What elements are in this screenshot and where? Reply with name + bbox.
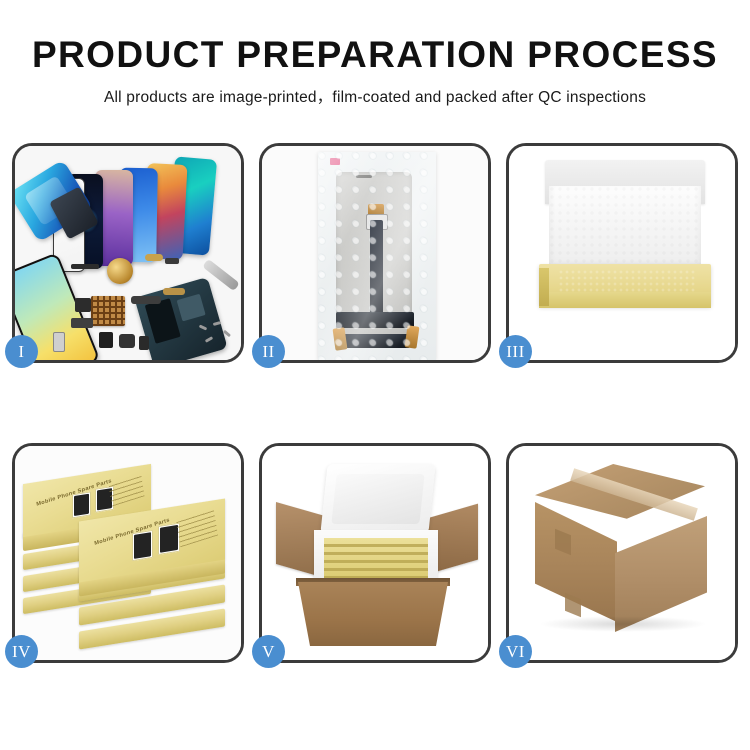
- camera-module-part: [75, 298, 91, 312]
- bubble-wrap-package: [318, 152, 436, 360]
- step-4-image: Mobile Phone Spare Parts Mobile Phone Sp…: [15, 446, 241, 660]
- flex-cable-part-b: [165, 258, 179, 264]
- retail-box-rear-window-left: [72, 492, 91, 519]
- page-header: PRODUCT PREPARATION PROCESS All products…: [0, 0, 750, 107]
- process-steps-grid: I II: [12, 143, 738, 683]
- connector-part: [71, 318, 93, 328]
- foam-box-lid: [320, 464, 435, 534]
- process-step-panel-5: V: [259, 443, 491, 663]
- step-5-image: [262, 446, 488, 660]
- step-badge-2: II: [252, 335, 285, 368]
- gold-coil-component: [107, 258, 133, 284]
- bubble-wrap-gloss: [318, 152, 436, 360]
- carton-drop-shadow: [539, 616, 707, 632]
- step-2-image: [262, 146, 488, 360]
- process-step-panel-1: I: [12, 143, 244, 363]
- step-6-image: [509, 446, 735, 660]
- speaker-part: [99, 332, 113, 348]
- page-title: PRODUCT PREPARATION PROCESS: [0, 36, 750, 75]
- sim-tray-part: [53, 332, 65, 352]
- foam-texture: [549, 186, 701, 270]
- step-1-image: [15, 146, 241, 360]
- step-3-image: [509, 146, 735, 360]
- yellow-tray-left-corner: [539, 268, 549, 306]
- step-badge-3: III: [499, 335, 532, 368]
- process-step-panel-3: III: [506, 143, 738, 363]
- retail-box-front-window-left: [132, 530, 154, 562]
- earpiece-mesh-part: [71, 264, 99, 269]
- vibrator-part: [119, 334, 135, 348]
- product-preparation-process-page: PRODUCT PREPARATION PROCESS All products…: [0, 0, 750, 750]
- step-badge-6: VI: [499, 635, 532, 668]
- flex-cable-part-a: [145, 254, 163, 261]
- gold-flex-part: [163, 288, 185, 295]
- packed-dark-items: [559, 270, 695, 292]
- screws-group: [197, 322, 237, 348]
- step-badge-1: I: [5, 335, 38, 368]
- retail-box-stack: Mobile Phone Spare Parts Mobile Phone Sp…: [21, 468, 237, 650]
- white-foam-sheet: [549, 186, 701, 270]
- antenna-flex-part: [131, 296, 161, 304]
- process-step-panel-6: VI: [506, 443, 738, 663]
- yellow-tray-front-edge: [539, 292, 711, 308]
- button-part: [139, 336, 149, 350]
- carton-front-panel: [298, 582, 448, 646]
- process-step-panel-2: II: [259, 143, 491, 363]
- chip-grid-component: [91, 296, 125, 326]
- step-badge-5: V: [252, 635, 285, 668]
- page-subtitle: All products are image-printed，film-coat…: [0, 85, 750, 107]
- step-badge-4: IV: [5, 635, 38, 668]
- process-step-panel-4: Mobile Phone Spare Parts Mobile Phone Sp…: [12, 443, 244, 663]
